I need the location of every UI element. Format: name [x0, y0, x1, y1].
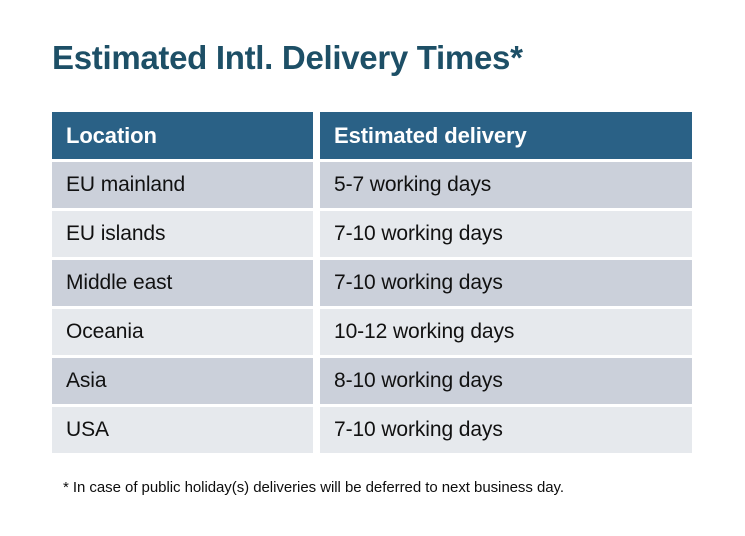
- table-row: Asia 8-10 working days: [52, 358, 692, 404]
- delivery-times-page: Estimated Intl. Delivery Times* Location…: [0, 0, 745, 536]
- cell-location: Asia: [52, 358, 313, 404]
- column-divider: [313, 358, 320, 404]
- table-row: EU mainland 5-7 working days: [52, 162, 692, 208]
- cell-location: Middle east: [52, 260, 313, 306]
- cell-estimated-delivery: 5-7 working days: [320, 162, 692, 208]
- column-divider: [313, 309, 320, 355]
- table-row: USA 7-10 working days: [52, 407, 692, 453]
- cell-estimated-delivery: 10-12 working days: [320, 309, 692, 355]
- cell-location: Oceania: [52, 309, 313, 355]
- column-divider: [313, 260, 320, 306]
- column-divider: [313, 112, 320, 159]
- column-divider: [313, 162, 320, 208]
- table-header-location: Location: [52, 112, 313, 159]
- column-divider: [313, 407, 320, 453]
- table-row: Middle east 7-10 working days: [52, 260, 692, 306]
- table-row: Oceania 10-12 working days: [52, 309, 692, 355]
- table-footnote: * In case of public holiday(s) deliverie…: [63, 479, 564, 496]
- column-divider: [313, 211, 320, 257]
- delivery-times-table: Location Estimated delivery EU mainland …: [52, 112, 692, 456]
- table-header-estimated-delivery: Estimated delivery: [320, 112, 692, 159]
- cell-estimated-delivery: 7-10 working days: [320, 211, 692, 257]
- cell-estimated-delivery: 7-10 working days: [320, 260, 692, 306]
- table-header-row: Location Estimated delivery: [52, 112, 692, 159]
- cell-estimated-delivery: 8-10 working days: [320, 358, 692, 404]
- cell-location: USA: [52, 407, 313, 453]
- page-title: Estimated Intl. Delivery Times*: [52, 38, 523, 78]
- cell-location: EU mainland: [52, 162, 313, 208]
- cell-estimated-delivery: 7-10 working days: [320, 407, 692, 453]
- table-row: EU islands 7-10 working days: [52, 211, 692, 257]
- cell-location: EU islands: [52, 211, 313, 257]
